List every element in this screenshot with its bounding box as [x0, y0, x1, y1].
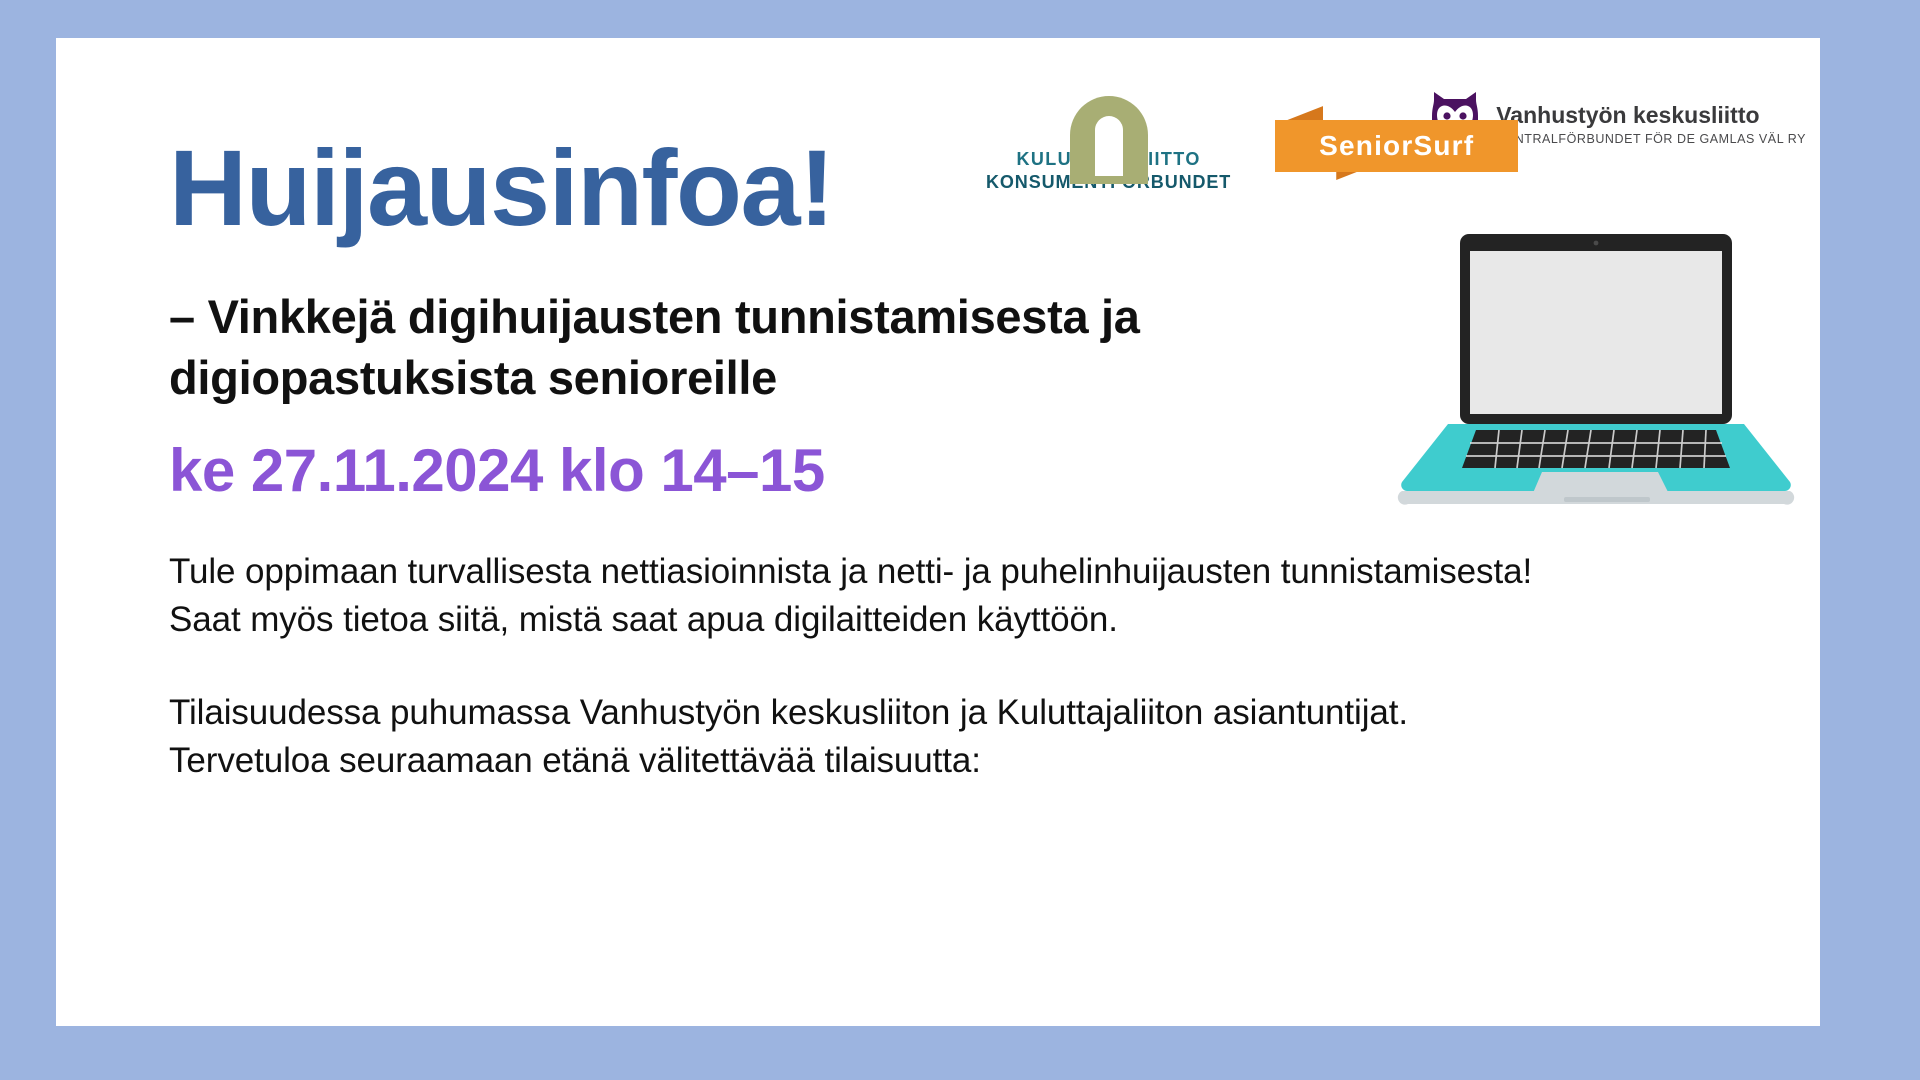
vtkl-name-fi: Vanhustyön keskusliitto	[1496, 102, 1806, 128]
body-paragraph-1: Tule oppimaan turvallisesta nettiasioinn…	[169, 548, 1569, 645]
content-card: KULUTTAJALIITTO KONSUMENTFÖRBUNDET Senio…	[56, 38, 1820, 1026]
page-subtitle: – Vinkkejä digihuijausten tunnistamisest…	[169, 286, 1349, 408]
page-title: Huijausinfoa!	[169, 134, 1569, 242]
main-content: Huijausinfoa! – Vinkkejä digihuijausten …	[169, 134, 1569, 785]
body-paragraph-2: Tilaisuudessa puhumassa Vanhustyön kesku…	[169, 689, 1569, 786]
event-datetime: ke 27.11.2024 klo 14–15	[169, 438, 1569, 504]
slide-background: KULUTTAJALIITTO KONSUMENTFÖRBUNDET Senio…	[0, 0, 1920, 1080]
